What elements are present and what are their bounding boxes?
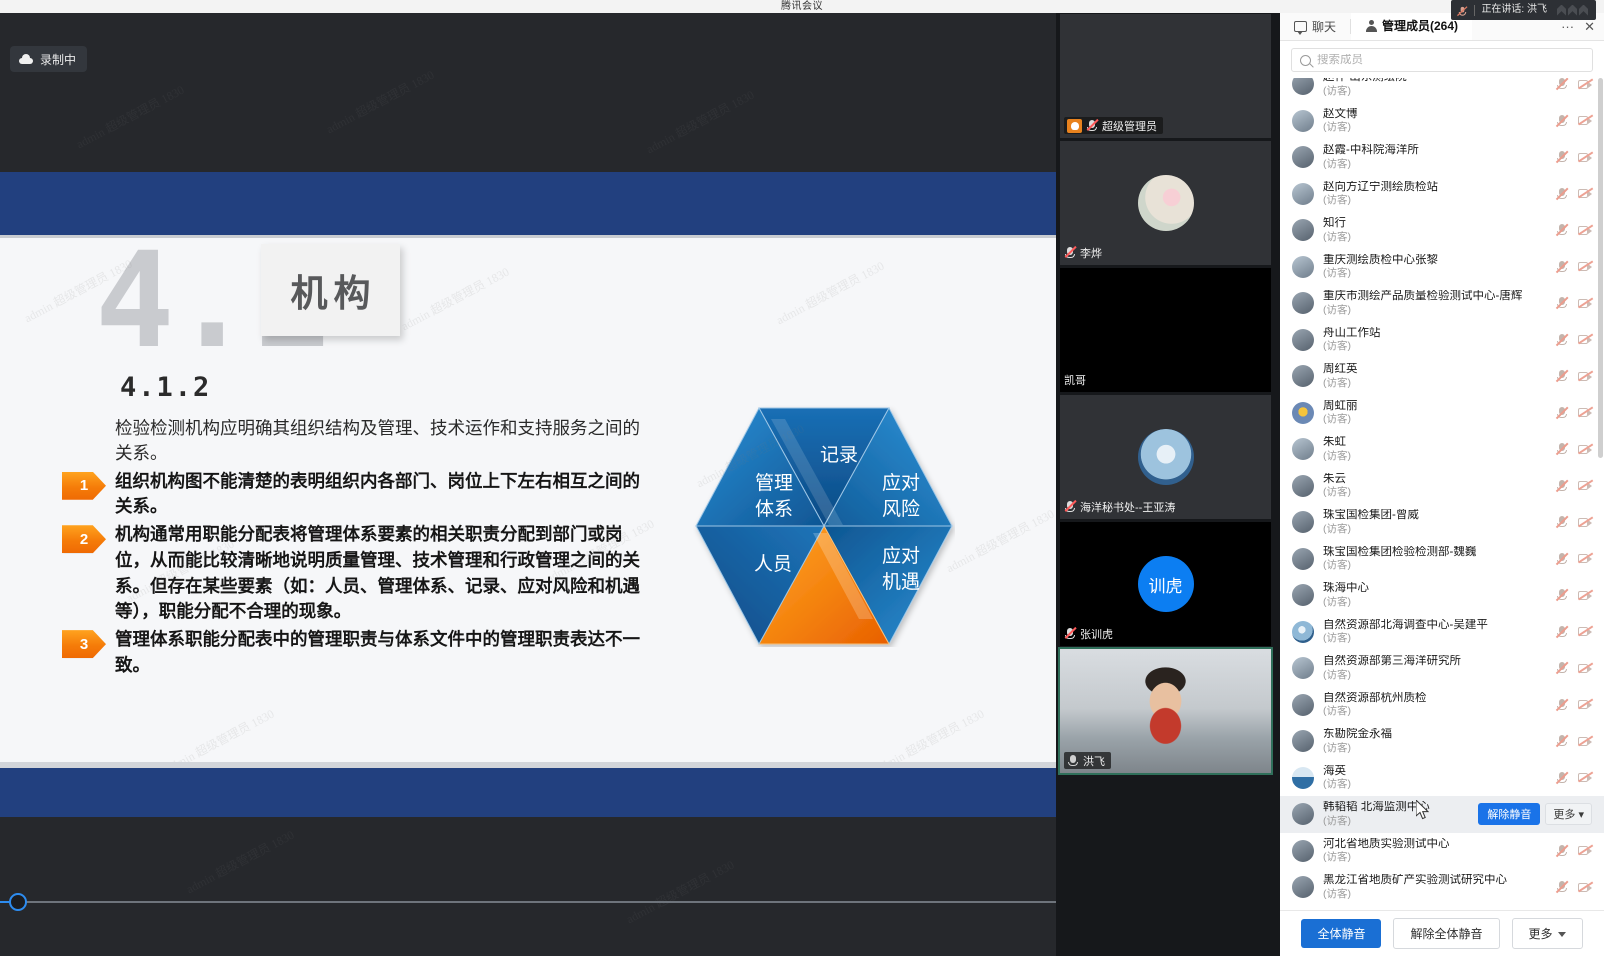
shared-screen-stage: 录制中 admin 超级管理员 1830 admin 超级管理员 1830 ad… [0,13,1056,956]
member-name: 珠宝国检集团检验检测部-魏巍 [1323,546,1546,559]
member-name: 知行 [1323,217,1546,230]
member-list[interactable]: 赵什 山东测绘院(访客)赵文博(访客)赵霞-中科院海洋所(访客)赵向方辽宁测绘质… [1280,78,1604,910]
member-name-block: 海英(访客) [1323,765,1546,791]
member-name: 自然资源部北海调查中心-吴建平 [1323,619,1546,632]
tile-namebar: 凯哥 [1064,371,1092,388]
member-name: 赵霞-中科院海洋所 [1323,144,1546,157]
chevron-down-icon [1558,932,1566,937]
mic-off-icon[interactable] [1555,515,1568,529]
tile-namebar: 洪飞 [1064,752,1111,769]
mute-all-button[interactable]: 全体静音 [1301,919,1381,948]
member-row[interactable]: 周红英(访客) [1280,358,1604,395]
more-button-label: 更多 [1529,927,1553,941]
tile-name: 张训虎 [1080,626,1113,642]
slide-title-chip: 机构 [261,244,400,336]
member-avatar [1292,329,1314,351]
slide-lead-paragraph: 检验检测机构应明确其组织结构及管理、技术运作和支持服务之间的关系。 [115,417,640,468]
member-row[interactable]: 舟山工作站(访客) [1280,322,1604,359]
member-name-block: 赵什 山东测绘院(访客) [1323,78,1546,97]
mic-off-icon[interactable] [1555,479,1568,493]
watermark: admin 超级管理员 1830 [183,826,297,897]
slide-point: 1 组织机构图不能清楚的表明组织内各部门、岗位上下左右相互之间的关系。 [115,470,640,521]
member-name: 赵向方辽宁测绘质检站 [1323,181,1546,194]
member-name: 海英 [1323,765,1546,778]
meeting-window: 腾讯会议 正在讲话: 洪飞 录制中 admin 超级管理员 1830 admin… [0,0,1604,956]
member-avatar [1292,548,1314,570]
member-name-block: 赵文博(访客) [1323,108,1546,134]
member-avatar [1292,402,1314,424]
member-controls [1555,442,1594,456]
mic-off-icon [1064,627,1076,640]
member-name: 朱虹 [1323,436,1546,449]
member-name: 重庆测绘质检中心张黎 [1323,254,1546,267]
member-row[interactable]: 赵文博(访客) [1280,103,1604,140]
member-role: (访客) [1323,888,1546,901]
member-avatar [1292,110,1314,132]
svg-text:体系: 体系 [755,498,793,520]
camera-off-icon[interactable] [1578,480,1592,491]
member-row[interactable]: 海英(访客) [1280,760,1604,797]
search-icon [1300,55,1311,66]
camera-off-icon[interactable] [1578,882,1592,893]
member-role: (访客) [1323,742,1546,755]
member-role: (访客) [1323,632,1546,645]
member-row[interactable]: 赵什 山东测绘院(访客) [1280,78,1604,103]
member-controls [1555,333,1594,347]
mic-off-icon[interactable] [1555,625,1568,639]
mic-off-icon[interactable] [1555,442,1568,456]
member-controls [1555,625,1594,639]
svg-text:人员: 人员 [754,553,792,575]
camera-off-icon[interactable] [1578,772,1592,783]
member-more-button[interactable]: 更多 ▾ [1545,803,1592,825]
window-title: 腾讯会议 [781,1,823,12]
member-name-block: 周红英(访客) [1323,363,1546,389]
svg-text:应对: 应对 [882,472,920,494]
member-avatar [1292,511,1314,533]
mouse-cursor [1416,800,1430,820]
member-name: 自然资源部杭州质检 [1323,692,1546,705]
member-role: (访客) [1323,231,1546,244]
slider-track[interactable] [0,901,1056,903]
member-avatar [1292,803,1314,825]
slide-point: 2 机构通常用职能分配表将管理体系要素的相关职责分配到部门或岗位，从而能比较清晰… [115,523,640,626]
camera-off-icon[interactable] [1578,152,1592,163]
member-avatar [1292,183,1314,205]
pill-divider [1474,5,1475,16]
avatar [1138,175,1194,231]
camera-off-icon[interactable] [1578,261,1592,272]
mic-off-icon [1064,500,1076,513]
member-role: (访客) [1323,486,1546,499]
camera-off-icon[interactable] [1578,334,1592,345]
mic-off-icon[interactable] [1555,223,1568,237]
member-name-block: 自然资源部第三海洋研究所(访客) [1323,655,1546,681]
tile-name: 超级管理员 [1102,118,1157,134]
member-controls [1555,698,1594,712]
camera-off-icon[interactable] [1578,626,1592,637]
member-role: (访客) [1323,815,1469,828]
member-row[interactable]: 自然资源部杭州质检(访客) [1280,687,1604,724]
member-row[interactable]: 周虹丽(访客) [1280,395,1604,432]
member-avatar [1292,256,1314,278]
member-avatar [1292,840,1314,862]
mic-off-icon [1086,119,1098,132]
member-avatar [1292,78,1314,95]
watermark: admin 超级管理员 1830 [643,86,757,157]
slide-point-badge: 3 [62,630,106,658]
video-tile[interactable]: 凯哥 [1060,268,1271,392]
member-name-block: 黑龙江省地质矿产实验测试研究中心(访客) [1323,874,1546,900]
recording-label: 录制中 [40,51,76,68]
camera-off-icon[interactable] [1578,444,1592,455]
member-controls [1555,880,1594,894]
video-tile[interactable]: 训虎 张训虎 [1060,522,1271,646]
member-action-buttons: 解除静音更多 ▾ [1478,803,1592,825]
slide-point: 3 管理体系职能分配表中的管理职责与体系文件中的管理职责表达不一致。 [115,628,640,679]
member-row[interactable]: 韩韬韬 北海监测中心(访客)解除静音更多 ▾ [1280,796,1604,833]
member-name: 周红英 [1323,363,1546,376]
host-icon [1067,119,1082,133]
tile-name: 凯哥 [1064,372,1086,388]
mic-off-icon[interactable] [1555,114,1568,128]
camera-off-icon[interactable] [1578,298,1592,309]
stage-zoom-slider[interactable] [0,892,1056,912]
member-row[interactable]: 珠海中心(访客) [1280,577,1604,614]
camera-off-icon[interactable] [1578,407,1592,418]
slide-body: 检验检测机构应明确其组织结构及管理、技术运作和支持服务之间的关系。 1 组织机构… [115,417,640,680]
mic-off-icon[interactable] [1555,771,1568,785]
mic-off-icon[interactable] [1555,369,1568,383]
member-role: (访客) [1323,267,1546,280]
member-name-block: 自然资源部杭州质检(访客) [1323,692,1546,718]
member-name: 舟山工作站 [1323,327,1546,340]
more-options-icon[interactable]: ··· [1561,19,1574,34]
mic-off-icon[interactable] [1555,406,1568,420]
member-controls [1555,223,1594,237]
member-avatar [1292,146,1314,168]
member-name: 韩韬韬 北海监测中心 [1323,801,1469,814]
member-row[interactable]: 赵霞-中科院海洋所(访客) [1280,139,1604,176]
member-name: 珠宝国检集团-曾威 [1323,509,1546,522]
tile-namebar: 张训虎 [1064,625,1119,642]
member-row[interactable]: 重庆测绘质检中心张黎(访客) [1280,249,1604,286]
members-icon [1365,20,1377,32]
member-role: (访客) [1323,85,1546,98]
camera-off-icon[interactable] [1578,590,1592,601]
hexagon-diagram: 记录 应对 风险 应对 机遇 人员 管理 体系 [679,394,969,660]
tile-namebar: 李烨 [1064,244,1108,261]
slide-section-number: 4.1.2 [120,372,211,403]
member-name-block: 自然资源部北海调查中心-吴建平(访客) [1323,619,1546,645]
camera-off-icon[interactable] [1578,517,1592,528]
member-controls [1555,661,1594,675]
slide-point-text: 组织机构图不能清楚的表明组织内各部门、岗位上下左右相互之间的关系。 [115,470,640,521]
mic-off-icon [1457,5,1468,16]
member-name: 周虹丽 [1323,400,1546,413]
camera-off-icon[interactable] [1578,736,1592,747]
close-icon[interactable]: ✕ [1584,19,1595,35]
member-row[interactable]: 朱虹(访客) [1280,431,1604,468]
member-controls [1555,296,1594,310]
member-row[interactable]: 自然资源部第三海洋研究所(访客) [1280,650,1604,687]
member-name-block: 朱云(访客) [1323,473,1546,499]
unmute-member-button[interactable]: 解除静音 [1478,803,1540,825]
mic-off-icon[interactable] [1555,260,1568,274]
camera-off-icon[interactable] [1578,225,1592,236]
watermark: admin 超级管理员 1830 [773,257,887,328]
presentation-slide: 4.1 机构 4.1.2 检验检测机构应明确其组织结构及管理、技术运作和支持服务… [0,172,1056,817]
slide-point-badge: 1 [62,472,106,500]
video-tile[interactable]: 超级管理员 [1060,14,1271,138]
member-controls [1555,479,1594,493]
side-panel: 聊天 管理成员(264) ··· ✕ 赵什 山东测绘院(访客)赵文博(访客)赵霞… [1280,13,1604,956]
member-controls [1555,406,1594,420]
tab-members-label: 管理成员(264) [1382,17,1458,34]
mic-on-icon [1067,754,1079,767]
search-area [1280,41,1604,78]
member-avatar [1292,475,1314,497]
slider-knob[interactable] [9,893,27,911]
member-controls [1555,588,1594,602]
member-controls [1555,844,1594,858]
member-role: (访客) [1323,304,1546,317]
avatar: 训虎 [1138,556,1194,612]
hexagon-svg: 记录 应对 风险 应对 机遇 人员 管理 体系 [693,405,955,647]
member-role: (访客) [1323,340,1546,353]
member-name-block: 重庆测绘质检中心张黎(访客) [1323,254,1546,280]
window-titlebar: 腾讯会议 [0,0,1604,13]
slide-bottom-band [0,768,1056,817]
member-avatar [1292,621,1314,643]
member-role: (访客) [1323,377,1546,390]
member-row[interactable]: 自然资源部北海调查中心-吴建平(访客) [1280,614,1604,651]
member-avatar [1292,219,1314,241]
member-controls [1555,369,1594,383]
member-role: (访客) [1323,194,1546,207]
tile-name: 李烨 [1080,245,1102,261]
member-name-block: 朱虹(访客) [1323,436,1546,462]
search-box[interactable] [1291,48,1593,72]
mic-off-icon[interactable] [1555,552,1568,566]
svg-text:机遇: 机遇 [882,571,920,593]
tab-chat-label: 聊天 [1312,18,1336,35]
tile-name: 洪飞 [1083,753,1105,769]
member-avatar [1292,438,1314,460]
member-name: 河北省地质实验测试中心 [1323,838,1546,851]
avatar [1138,429,1194,485]
member-row[interactable]: 朱云(访客) [1280,468,1604,505]
member-avatar [1292,767,1314,789]
tile-namebar: 海洋秘书处--王亚涛 [1064,498,1181,515]
member-name-block: 知行(访客) [1323,217,1546,243]
member-controls: 解除静音更多 ▾ [1478,803,1594,825]
member-name-block: 珠宝国检集团检验检测部-魏巍(访客) [1323,546,1546,572]
member-role: (访客) [1323,559,1546,572]
member-avatar [1292,657,1314,679]
avatar-initials: 训虎 [1149,572,1183,597]
member-name: 赵文博 [1323,108,1546,121]
member-controls [1555,150,1594,164]
member-avatar [1292,584,1314,606]
recording-badge: 录制中 [10,46,87,72]
mic-off-icon[interactable] [1555,661,1568,675]
member-row[interactable]: 河北省地质实验测试中心(访客) [1280,833,1604,870]
camera-off-icon[interactable] [1578,79,1592,90]
member-row[interactable]: 重庆市测绘产品质量检验测试中心-唐辉(访客) [1280,285,1604,322]
member-controls [1555,260,1594,274]
mic-off-icon[interactable] [1555,78,1568,91]
video-tile[interactable]: 李烨 [1060,141,1271,265]
mic-off-icon[interactable] [1555,698,1568,712]
member-role: (访客) [1323,851,1546,864]
slide-title-chip-label: 机构 [285,263,377,317]
member-name: 重庆市测绘产品质量检验测试中心-唐辉 [1323,290,1546,303]
watermark: admin 超级管理员 1830 [398,263,512,334]
member-role: (访客) [1323,523,1546,536]
tile-namebar: 超级管理员 [1064,117,1163,134]
member-row[interactable]: 赵向方辽宁测绘质检站(访客) [1280,176,1604,213]
member-name-block: 重庆市测绘产品质量检验测试中心-唐辉(访客) [1323,290,1546,316]
member-controls [1555,552,1594,566]
member-controls [1555,771,1594,785]
member-name: 珠海中心 [1323,582,1546,595]
member-avatar [1292,730,1314,752]
member-name-block: 珠海中心(访客) [1323,582,1546,608]
camera-off-icon[interactable] [1578,115,1592,126]
mic-off-icon[interactable] [1555,844,1568,858]
member-avatar [1292,694,1314,716]
mic-off-icon[interactable] [1555,150,1568,164]
member-role: (访客) [1323,705,1546,718]
member-avatar [1292,292,1314,314]
member-row[interactable]: 东勘院金永福(访客) [1280,723,1604,760]
camera-off-icon[interactable] [1578,699,1592,710]
mic-off-icon[interactable] [1555,880,1568,894]
audio-wave-icon [1557,5,1588,16]
svg-text:应对: 应对 [882,545,920,567]
member-role: (访客) [1323,121,1546,134]
mic-off-icon[interactable] [1555,734,1568,748]
unmute-all-button[interactable]: 解除全体静音 [1393,918,1499,949]
slide-point-text: 机构通常用职能分配表将管理体系要素的相关职责分配到部门或岗位，从而能比较清晰地说… [115,523,640,626]
more-button[interactable]: 更多 [1512,918,1583,949]
member-controls [1555,78,1594,91]
mic-off-icon[interactable] [1555,296,1568,310]
video-thumbnail-strip: 超级管理员 李烨 凯哥 海洋秘书处--王亚涛 训虎 [1056,13,1280,956]
member-controls [1555,515,1594,529]
hex-label-jilu: 记录 [820,444,858,466]
svg-text:风险: 风险 [882,498,920,520]
member-name-block: 珠宝国检集团-曾威(访客) [1323,509,1546,535]
slide-point-badge: 2 [62,525,106,553]
member-controls [1555,187,1594,201]
member-name-block: 赵霞-中科院海洋所(访客) [1323,144,1546,170]
camera-off-icon[interactable] [1578,553,1592,564]
watermark: admin 超级管理员 1830 [73,81,187,152]
member-name-block: 赵向方辽宁测绘质检站(访客) [1323,181,1546,207]
chat-icon [1294,21,1307,32]
member-name-block: 舟山工作站(访客) [1323,327,1546,353]
video-tile-active-speaker[interactable]: 洪飞 [1060,649,1271,773]
mic-off-icon[interactable] [1555,187,1568,201]
member-name: 朱云 [1323,473,1546,486]
active-speaker-label: 正在讲话: 洪飞 [1481,0,1547,20]
member-name-block: 东勘院金永福(访客) [1323,728,1546,754]
tab-chat[interactable]: 聊天 [1280,13,1350,40]
slide-point-text: 管理体系职能分配表中的管理职责与体系文件中的管理职责表达不一致。 [115,628,640,679]
member-role: (访客) [1323,778,1546,791]
member-name-block: 河北省地质实验测试中心(访客) [1323,838,1546,864]
camera-off-icon[interactable] [1578,663,1592,674]
member-name-block: 周虹丽(访客) [1323,400,1546,426]
member-name: 东勘院金永福 [1323,728,1546,741]
member-avatar [1292,876,1314,898]
camera-off-icon[interactable] [1578,371,1592,382]
member-controls [1555,734,1594,748]
member-name: 黑龙江省地质矿产实验测试研究中心 [1323,874,1546,887]
video-tile[interactable]: 海洋秘书处--王亚涛 [1060,395,1271,519]
member-row[interactable]: 珠宝国检集团检验检测部-魏巍(访客) [1280,541,1604,578]
member-role: (访客) [1323,413,1546,426]
member-controls [1555,114,1594,128]
member-row[interactable]: 珠宝国检集团-曾威(访客) [1280,504,1604,541]
member-role: (访客) [1323,450,1546,463]
member-name-block: 韩韬韬 北海监测中心(访客) [1323,801,1469,827]
camera-off-icon[interactable] [1578,845,1592,856]
member-avatar [1292,365,1314,387]
tile-name: 海洋秘书处--王亚涛 [1080,499,1175,515]
mic-off-icon [1064,246,1076,259]
member-role: (访客) [1323,669,1546,682]
panel-footer: 全体静音 解除全体静音 更多 [1280,910,1604,956]
search-input[interactable] [1317,54,1584,66]
svg-text:管理: 管理 [755,472,793,494]
mic-off-icon[interactable] [1555,588,1568,602]
mic-off-icon[interactable] [1555,333,1568,347]
member-role: (访客) [1323,158,1546,171]
member-name: 自然资源部第三海洋研究所 [1323,655,1546,668]
watermark: admin 超级管理员 1830 [323,66,437,137]
member-row[interactable]: 黑龙江省地质矿产实验测试研究中心(访客) [1280,869,1604,906]
cloud-icon [19,54,33,64]
camera-off-icon[interactable] [1578,188,1592,199]
member-row[interactable]: 知行(访客) [1280,212,1604,249]
member-role: (访客) [1323,596,1546,609]
active-speaker-indicator: 正在讲话: 洪飞 [1451,0,1596,20]
